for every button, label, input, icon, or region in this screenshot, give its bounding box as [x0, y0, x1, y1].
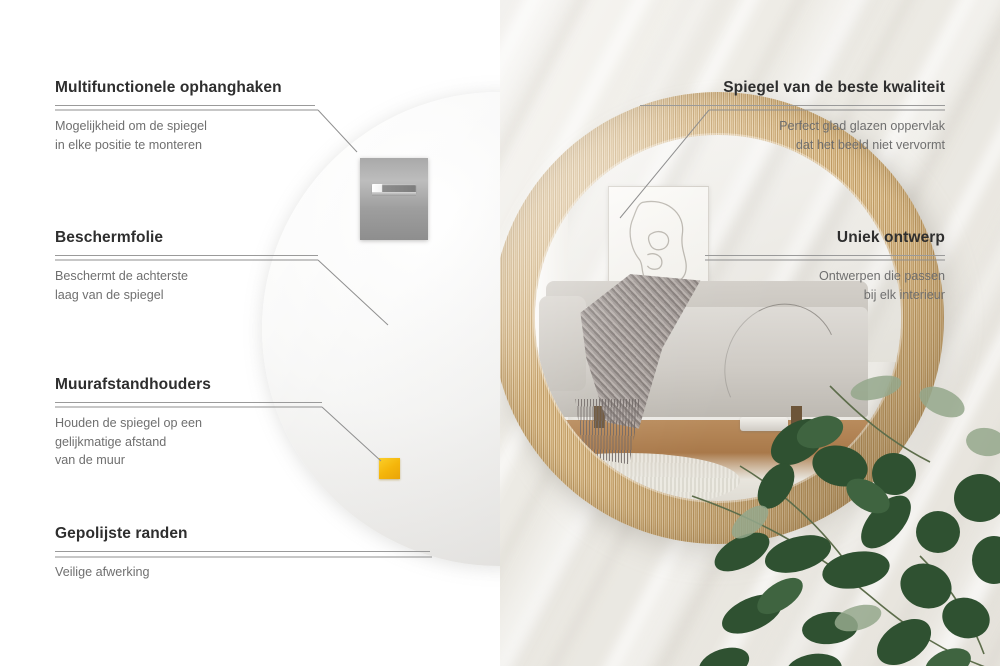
callout-design-body: Ontwerpen die passen bij elk interieur: [705, 267, 945, 304]
callout-foil-rule: [55, 255, 318, 256]
callout-hooks-title: Multifunctionele ophanghaken: [55, 79, 315, 97]
wall-spacer: [379, 458, 400, 479]
infographic-canvas: Multifunctionele ophanghaken Mogelijkhei…: [0, 0, 1000, 666]
hanging-hook-plate: [360, 158, 428, 240]
callout-design-title: Uniek ontwerp: [705, 229, 945, 247]
callout-hooks: Multifunctionele ophanghaken Mogelijkhei…: [55, 79, 315, 154]
callout-spacers-rule: [55, 402, 322, 403]
callout-spacers: Muurafstandhouders Houden de spiegel op …: [55, 376, 322, 470]
callout-edges-title: Gepolijste randen: [55, 525, 430, 543]
callout-design: Uniek ontwerp Ontwerpen die passen bij e…: [705, 229, 945, 304]
callout-quality-title: Spiegel van de beste kwaliteit: [640, 79, 945, 97]
callout-quality: Spiegel van de beste kwaliteit Perfect g…: [640, 79, 945, 154]
callout-edges-rule: [55, 551, 430, 552]
callout-spacers-body: Houden de spiegel op een gelijkmatige af…: [55, 414, 322, 470]
callout-foil-title: Beschermfolie: [55, 229, 318, 247]
callout-hooks-body: Mogelijkheid om de spiegel in elke posit…: [55, 117, 315, 154]
callout-quality-body: Perfect glad glazen oppervlak dat het be…: [640, 117, 945, 154]
callout-hooks-rule: [55, 105, 315, 106]
hook-lip: [372, 192, 416, 196]
callout-edges-body: Veilige afwerking: [55, 563, 430, 582]
foliage-branch: [680, 346, 1000, 666]
callout-foil-body: Beschermt de achterste laag van de spieg…: [55, 267, 318, 304]
callout-foil: Beschermfolie Beschermt de achterste laa…: [55, 229, 318, 304]
callout-spacers-title: Muurafstandhouders: [55, 376, 322, 394]
callout-quality-rule: [640, 105, 945, 106]
callout-design-rule: [705, 255, 945, 256]
callout-edges: Gepolijste randen Veilige afwerking: [55, 525, 430, 582]
